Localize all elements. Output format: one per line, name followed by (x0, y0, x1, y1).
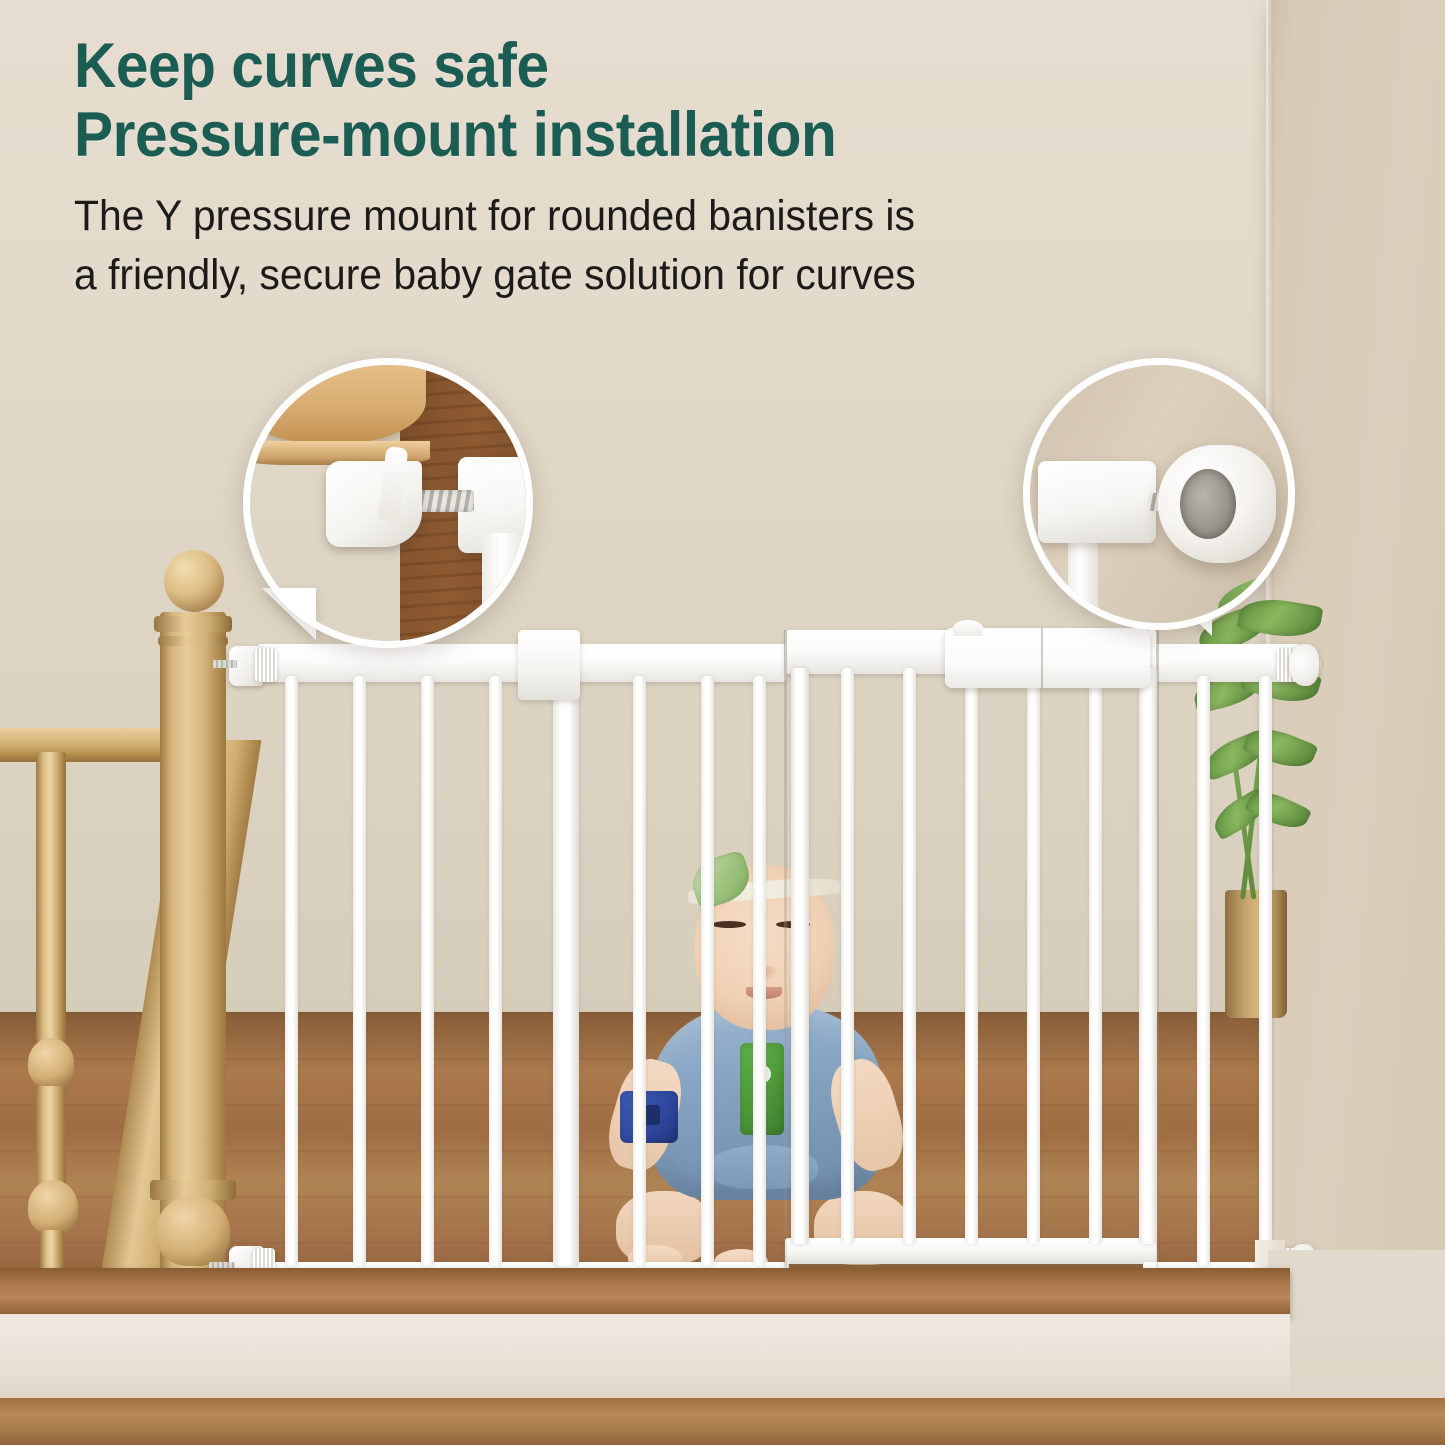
gate-bar (1259, 676, 1272, 1266)
stair-riser (0, 1314, 1290, 1402)
top-left-mount-bolt (213, 660, 237, 668)
wall-cup-recess (1180, 469, 1236, 539)
stair-tread-lower (0, 1398, 1445, 1445)
gate-bar (1089, 668, 1102, 1244)
stair-spindle-bulb (28, 1180, 78, 1234)
right-callout-photo (1030, 365, 1288, 623)
stair-spindle (36, 1086, 66, 1186)
gate-bar (353, 676, 366, 1266)
pressure-mounted-baby-gate[interactable]: Cumbor (235, 630, 1310, 1320)
subhead-line-1: The Y pressure mount for rounded baniste… (74, 188, 1243, 245)
right-wall-lower (1268, 1250, 1445, 1400)
top-right-wall-cup[interactable] (1289, 644, 1319, 686)
gate-panel-seam-left (784, 630, 787, 1290)
marketing-copy: Keep curves safe Pressure-mount installa… (74, 34, 1304, 303)
gate-bar (965, 668, 978, 1244)
headline-line-2: Pressure-mount installation (74, 103, 1218, 168)
right-callout-circle (1023, 358, 1295, 630)
gate-bar (1197, 676, 1210, 1266)
newel-base-bulb (156, 1196, 230, 1266)
subhead-line-2: a friendly, secure baby gate solution fo… (74, 247, 1243, 304)
gate-bar (633, 676, 646, 1266)
gate-bar (903, 668, 916, 1244)
latch-seam (1041, 628, 1043, 688)
stair-spindle-bulb (28, 1038, 74, 1088)
gate-bar (753, 676, 766, 1266)
banister-post-cap (243, 358, 426, 445)
gate-bar (421, 676, 434, 1266)
stair-tread-upper (0, 1268, 1290, 1316)
latch-release-button[interactable] (953, 620, 983, 636)
gate-bar (1027, 668, 1040, 1244)
product-image-canvas: Cumbor (0, 0, 1445, 1445)
stair-spindle (36, 752, 66, 1042)
gate-door-edge-post-right (1139, 668, 1157, 1244)
left-callout-photo (250, 365, 526, 641)
gate-bar (285, 676, 298, 1266)
gate-end-housing (1038, 461, 1156, 543)
gate-door-hinge-post (553, 676, 579, 1266)
headline-line-1: Keep curves safe (74, 34, 1218, 99)
gate-bar (841, 668, 854, 1244)
newel-collar-upper (154, 616, 232, 632)
gate-latch-housing[interactable]: Cumbor (945, 628, 1150, 688)
gate-hinge-block (518, 630, 580, 700)
gate-door-edge-post-left (791, 668, 809, 1244)
newel-ball-finial (164, 550, 224, 612)
top-left-adjust-wheel[interactable] (255, 648, 277, 682)
gate-vertical-stem (1068, 533, 1098, 630)
left-callout-circle (243, 358, 533, 648)
y-pressure-mount-bracket (326, 461, 422, 547)
gate-vertical-stem (482, 533, 530, 625)
gate-bar (489, 676, 502, 1266)
gate-bar (701, 676, 714, 1266)
newel-collar-lower (158, 636, 228, 646)
